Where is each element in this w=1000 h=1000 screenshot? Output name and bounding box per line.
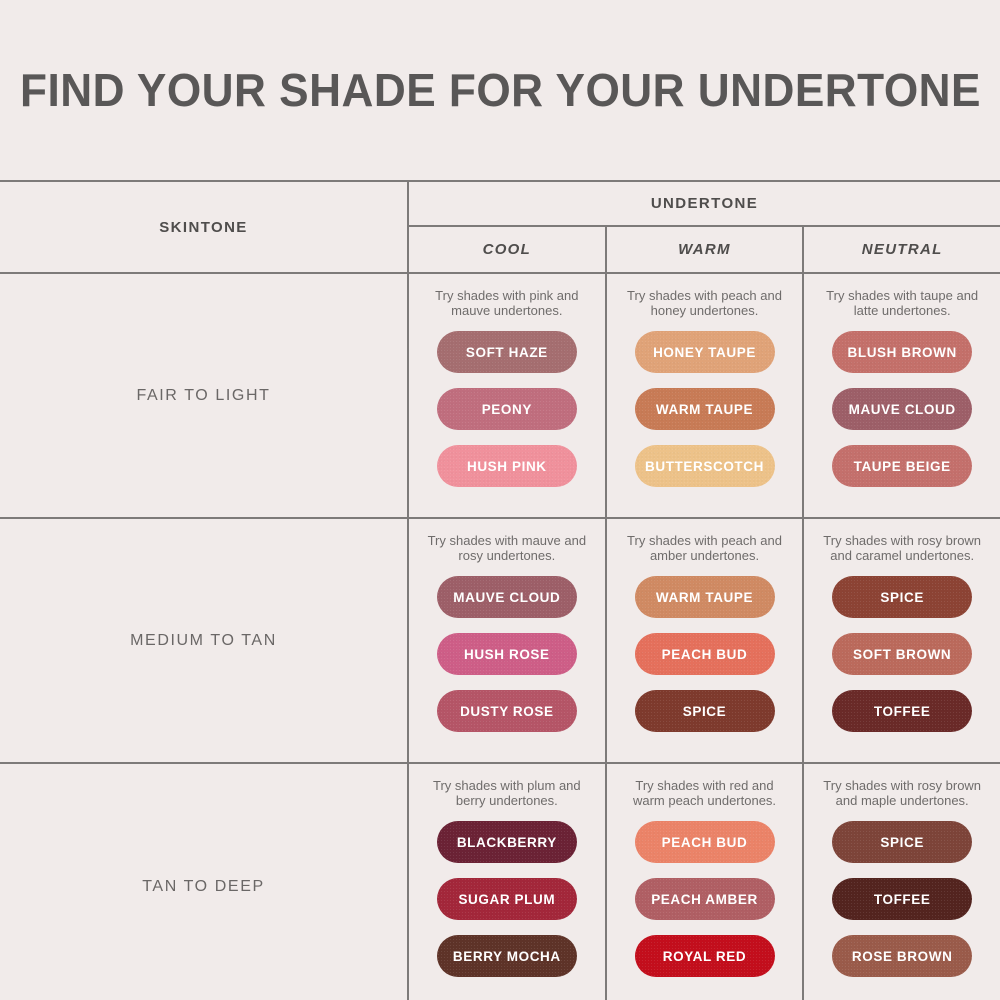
shade-swatch[interactable]: SOFT HAZE xyxy=(437,331,577,373)
shade-swatch[interactable]: MAUVE CLOUD xyxy=(437,576,577,618)
shade-swatch[interactable]: BERRY MOCHA xyxy=(437,935,577,977)
skintone-header-cell: SKINTONE xyxy=(0,182,409,272)
shade-swatch-label: SOFT HAZE xyxy=(466,345,548,360)
shade-swatch-label: HUSH PINK xyxy=(467,459,547,474)
shade-cell-cool: Try shades with pink and mauve undertone… xyxy=(409,274,607,517)
skintone-label: MEDIUM TO TAN xyxy=(130,632,277,650)
shade-swatch[interactable]: DUSTY ROSE xyxy=(437,690,577,732)
table-row: MEDIUM TO TANTry shades with mauve and r… xyxy=(0,519,1000,764)
shade-pill-stack: SPICESOFT BROWNTOFFEE xyxy=(832,576,972,732)
skintone-cell: TAN TO DEEP xyxy=(0,764,409,1000)
shade-cell-neutral: Try shades with rosy brown and caramel u… xyxy=(804,519,1000,762)
shade-swatch-label: HUSH ROSE xyxy=(464,647,550,662)
shade-pill-stack: BLUSH BROWNMAUVE CLOUDTAUPE BEIGE xyxy=(832,331,972,487)
shade-swatch-label: WARM TAUPE xyxy=(656,590,753,605)
shade-advice-text: Try shades with pink and mauve undertone… xyxy=(421,288,593,319)
shade-swatch[interactable]: ROYAL RED xyxy=(635,935,775,977)
skintone-label: FAIR TO LIGHT xyxy=(136,387,270,405)
shade-chart-table: SKINTONE UNDERTONE COOL WARM NEUTRAL FAI… xyxy=(0,180,1000,1000)
page-title: FIND YOUR SHADE FOR YOUR UNDERTONE xyxy=(20,66,981,114)
shade-swatch-label: SOFT BROWN xyxy=(853,647,951,662)
shade-swatch[interactable]: WARM TAUPE xyxy=(635,388,775,430)
undertone-column-cool: COOL xyxy=(409,227,607,272)
shade-swatch[interactable]: TOFFEE xyxy=(832,690,972,732)
shade-swatch-label: WARM TAUPE xyxy=(656,402,753,417)
shade-swatch[interactable]: HUSH ROSE xyxy=(437,633,577,675)
shade-swatch-label: PEACH AMBER xyxy=(651,892,758,907)
shade-swatch-label: ROYAL RED xyxy=(663,949,746,964)
shade-swatch-label: DUSTY ROSE xyxy=(460,704,554,719)
shade-advice-text: Try shades with red and warm peach under… xyxy=(619,778,791,809)
shade-cell-cool: Try shades with plum and berry undertone… xyxy=(409,764,607,1000)
shade-swatch-label: SUGAR PLUM xyxy=(458,892,555,907)
shade-swatch-label: TAUPE BEIGE xyxy=(854,459,951,474)
skintone-cell: MEDIUM TO TAN xyxy=(0,519,409,762)
skintone-label: TAN TO DEEP xyxy=(142,878,265,896)
shade-swatch[interactable]: ROSE BROWN xyxy=(832,935,972,977)
shade-swatch[interactable]: HONEY TAUPE xyxy=(635,331,775,373)
shade-cell-neutral: Try shades with taupe and latte underton… xyxy=(804,274,1000,517)
skintone-cell: FAIR TO LIGHT xyxy=(0,274,409,517)
shade-swatch-label: BUTTERSCOTCH xyxy=(645,459,764,474)
shade-swatch-label: PEONY xyxy=(482,402,532,417)
shade-swatch-label: BLACKBERRY xyxy=(457,835,557,850)
shade-advice-text: Try shades with peach and honey underton… xyxy=(619,288,791,319)
shade-swatch[interactable]: SOFT BROWN xyxy=(832,633,972,675)
shade-pill-stack: BLACKBERRYSUGAR PLUMBERRY MOCHA xyxy=(437,821,577,977)
shade-cell-warm: Try shades with red and warm peach under… xyxy=(607,764,805,1000)
shade-swatch[interactable]: BLUSH BROWN xyxy=(832,331,972,373)
shade-swatch-label: SPICE xyxy=(880,835,924,850)
table-body: FAIR TO LIGHTTry shades with pink and ma… xyxy=(0,274,1000,1000)
shade-swatch-label: TOFFEE xyxy=(874,704,931,719)
table-header-row: SKINTONE UNDERTONE COOL WARM NEUTRAL xyxy=(0,182,1000,274)
shade-swatch-label: SPICE xyxy=(880,590,924,605)
shade-swatch[interactable]: TAUPE BEIGE xyxy=(832,445,972,487)
shade-cell-neutral: Try shades with rosy brown and maple und… xyxy=(804,764,1000,1000)
shade-pill-stack: HONEY TAUPEWARM TAUPEBUTTERSCOTCH xyxy=(635,331,775,487)
undertone-header-group: UNDERTONE COOL WARM NEUTRAL xyxy=(409,182,1000,272)
shade-swatch-label: MAUVE CLOUD xyxy=(849,402,956,417)
shade-swatch-label: BLUSH BROWN xyxy=(848,345,957,360)
shade-swatch-label: MAUVE CLOUD xyxy=(453,590,560,605)
shade-swatch[interactable]: TOFFEE xyxy=(832,878,972,920)
undertone-header-label: UNDERTONE xyxy=(409,182,1000,227)
table-row: TAN TO DEEPTry shades with plum and berr… xyxy=(0,764,1000,1000)
shade-cell-warm: Try shades with peach and honey underton… xyxy=(607,274,805,517)
shade-swatch[interactable]: MAUVE CLOUD xyxy=(832,388,972,430)
shade-swatch[interactable]: HUSH PINK xyxy=(437,445,577,487)
shade-swatch-label: HONEY TAUPE xyxy=(653,345,756,360)
shade-swatch[interactable]: BLACKBERRY xyxy=(437,821,577,863)
shade-swatch-label: PEACH BUD xyxy=(662,647,748,662)
shade-pill-stack: SOFT HAZEPEONYHUSH PINK xyxy=(437,331,577,487)
shade-advice-text: Try shades with peach and amber underton… xyxy=(619,533,791,564)
undertone-column-warm: WARM xyxy=(607,227,805,272)
title-area: FIND YOUR SHADE FOR YOUR UNDERTONE xyxy=(0,0,1000,180)
shade-swatch[interactable]: SPICE xyxy=(832,576,972,618)
shade-pill-stack: WARM TAUPEPEACH BUDSPICE xyxy=(635,576,775,732)
shade-pill-stack: MAUVE CLOUDHUSH ROSEDUSTY ROSE xyxy=(437,576,577,732)
shade-swatch-label: PEACH BUD xyxy=(662,835,748,850)
shade-pill-stack: SPICETOFFEEROSE BROWN xyxy=(832,821,972,977)
shade-advice-text: Try shades with taupe and latte underton… xyxy=(816,288,988,319)
shade-swatch[interactable]: SPICE xyxy=(635,690,775,732)
skintone-header-label: SKINTONE xyxy=(159,219,247,236)
shade-swatch-label: SPICE xyxy=(683,704,727,719)
shade-swatch[interactable]: PEACH BUD xyxy=(635,633,775,675)
shade-swatch[interactable]: BUTTERSCOTCH xyxy=(635,445,775,487)
table-row: FAIR TO LIGHTTry shades with pink and ma… xyxy=(0,274,1000,519)
shade-swatch[interactable]: PEONY xyxy=(437,388,577,430)
shade-advice-text: Try shades with mauve and rosy undertone… xyxy=(421,533,593,564)
shade-pill-stack: PEACH BUDPEACH AMBERROYAL RED xyxy=(635,821,775,977)
shade-advice-text: Try shades with rosy brown and maple und… xyxy=(816,778,988,809)
undertone-subheader-row: COOL WARM NEUTRAL xyxy=(409,227,1000,272)
shade-swatch-label: TOFFEE xyxy=(874,892,931,907)
undertone-column-neutral: NEUTRAL xyxy=(804,227,1000,272)
shade-cell-warm: Try shades with peach and amber underton… xyxy=(607,519,805,762)
shade-cell-cool: Try shades with mauve and rosy undertone… xyxy=(409,519,607,762)
shade-swatch[interactable]: SUGAR PLUM xyxy=(437,878,577,920)
shade-swatch-label: ROSE BROWN xyxy=(852,949,953,964)
shade-advice-text: Try shades with plum and berry undertone… xyxy=(421,778,593,809)
shade-swatch[interactable]: PEACH BUD xyxy=(635,821,775,863)
shade-swatch-label: BERRY MOCHA xyxy=(453,949,561,964)
shade-swatch[interactable]: PEACH AMBER xyxy=(635,878,775,920)
shade-finder-infographic: FIND YOUR SHADE FOR YOUR UNDERTONE SKINT… xyxy=(0,0,1000,1000)
shade-swatch[interactable]: SPICE xyxy=(832,821,972,863)
shade-swatch[interactable]: WARM TAUPE xyxy=(635,576,775,618)
shade-advice-text: Try shades with rosy brown and caramel u… xyxy=(816,533,988,564)
